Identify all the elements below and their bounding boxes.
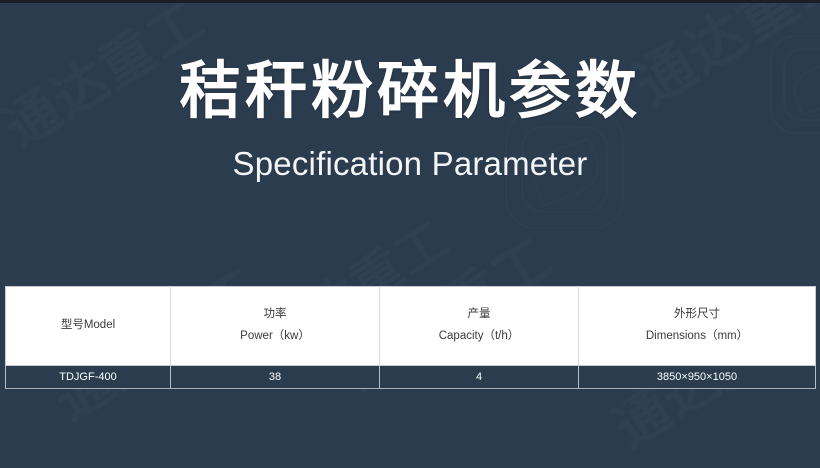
cell-dimensions: 3850×950×1050: [579, 366, 816, 389]
page-subtitle-en: Specification Parameter: [233, 145, 588, 183]
table-row: TDJGF-400 38 4 3850×950×1050: [6, 366, 816, 389]
page-title-cn: 秸秆粉碎机参数: [179, 58, 641, 123]
table-header-row: 型号Model 功率 Power（kw） 产量 Capacity（t/h） 外形…: [6, 287, 816, 366]
column-header-model: 型号Model: [6, 287, 171, 366]
column-header-dimensions: 外形尺寸 Dimensions（mm）: [579, 287, 816, 366]
top-edge-strip: [0, 0, 820, 3]
column-header-capacity: 产量 Capacity（t/h）: [380, 287, 579, 366]
column-header-power-label-cn: 功率: [171, 304, 379, 326]
cell-capacity: 4: [380, 366, 579, 389]
column-header-capacity-label-en: Capacity（t/h）: [380, 326, 578, 348]
column-header-capacity-label-cn: 产量: [380, 304, 578, 326]
column-header-dimensions-label-en: Dimensions（mm）: [579, 326, 815, 348]
cell-model: TDJGF-400: [6, 366, 171, 389]
cell-power: 38: [171, 366, 380, 389]
product-spec-banner: 通达重工 通达重工 通达重工 通达重工 通达重工 通达重工 秸秆粉碎机参数 Sp…: [0, 0, 820, 468]
column-header-power-label-en: Power（kw）: [171, 326, 379, 348]
column-header-power: 功率 Power（kw）: [171, 287, 380, 366]
column-header-dimensions-label-cn: 外形尺寸: [579, 304, 815, 326]
specification-table: 型号Model 功率 Power（kw） 产量 Capacity（t/h） 外形…: [5, 286, 816, 389]
table-header: 型号Model 功率 Power（kw） 产量 Capacity（t/h） 外形…: [6, 287, 816, 366]
table-body: TDJGF-400 38 4 3850×950×1050: [6, 366, 816, 389]
banner-header: 秸秆粉碎机参数 Specification Parameter: [0, 3, 820, 286]
column-header-model-label: 型号Model: [6, 315, 170, 337]
